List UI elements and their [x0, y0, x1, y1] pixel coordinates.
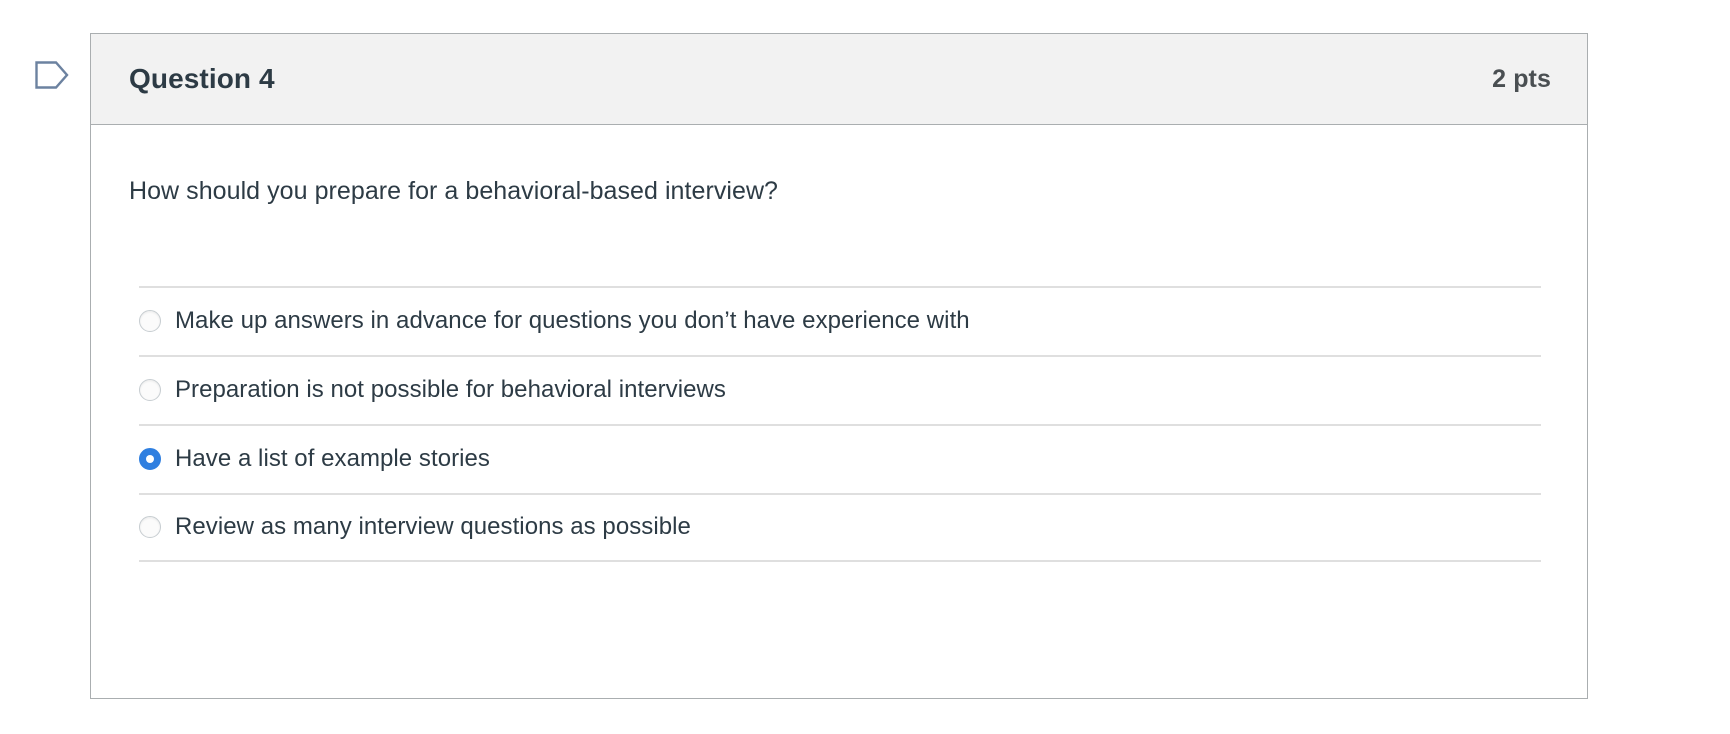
- radio-selected-icon[interactable]: [139, 448, 161, 470]
- question-flag-marker[interactable]: [34, 58, 70, 92]
- flag-bookmark-icon: [34, 58, 70, 92]
- question-header: Question 4 2 pts: [91, 34, 1587, 125]
- answers-list: Make up answers in advance for questions…: [91, 286, 1587, 562]
- answer-option-label: Have a list of example stories: [175, 445, 490, 473]
- radio-unselected-icon[interactable]: [139, 516, 161, 538]
- answer-option-3[interactable]: Have a list of example stories: [139, 424, 1541, 493]
- answer-option-label: Make up answers in advance for questions…: [175, 307, 970, 335]
- answer-option-2[interactable]: Preparation is not possible for behavior…: [139, 355, 1541, 424]
- answer-option-1[interactable]: Make up answers in advance for questions…: [139, 286, 1541, 355]
- question-title: Question 4: [129, 63, 275, 95]
- answer-option-4[interactable]: Review as many interview questions as po…: [139, 493, 1541, 562]
- radio-unselected-icon[interactable]: [139, 379, 161, 401]
- question-body: How should you prepare for a behavioral-…: [91, 125, 1587, 562]
- question-points-badge: 2 pts: [1492, 65, 1551, 94]
- radio-unselected-icon[interactable]: [139, 310, 161, 332]
- answer-option-label: Review as many interview questions as po…: [175, 513, 691, 541]
- question-card: Question 4 2 pts How should you prepare …: [90, 33, 1588, 699]
- answer-option-label: Preparation is not possible for behavior…: [175, 376, 726, 404]
- question-prompt-text: How should you prepare for a behavioral-…: [91, 125, 1587, 209]
